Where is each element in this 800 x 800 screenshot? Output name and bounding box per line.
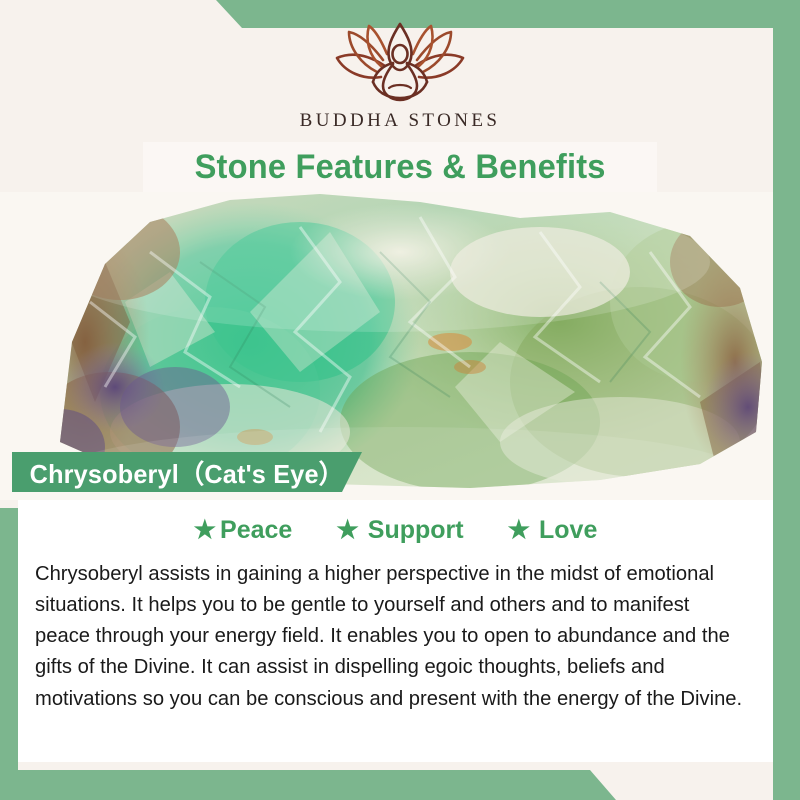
brand-logo-block: BUDDHA STONES: [0, 20, 800, 132]
benefit-tag-label: Peace: [220, 516, 292, 545]
benefit-tag-love: ★ Love: [508, 516, 598, 545]
content-card: ★ Peace ★ Support ★ Love Chrysoberyl ass…: [18, 500, 773, 762]
benefit-tags-row: ★ Peace ★ Support ★ Love: [18, 500, 773, 545]
benefit-tag-label: Love: [539, 516, 597, 545]
lotus-meditation-icon: [325, 20, 475, 106]
stone-description: Chrysoberyl assists in gaining a higher …: [35, 558, 745, 714]
star-icon: ★: [336, 518, 358, 543]
benefit-tag-peace: ★ Peace: [194, 516, 293, 545]
brand-name: BUDDHA STONES: [0, 110, 800, 132]
star-icon: ★: [194, 518, 216, 543]
frame-left-band: [0, 508, 18, 800]
star-icon: ★: [508, 518, 530, 543]
product-infographic: BUDDHA STONES Stone Features & Benefits: [0, 0, 800, 800]
stone-name-banner: Chrysoberyl（Cat's Eye）: [12, 452, 362, 492]
benefit-tag-support: ★ Support: [336, 516, 463, 545]
benefit-tag-label: Support: [368, 516, 464, 545]
title-banner: Stone Features & Benefits: [143, 142, 657, 192]
frame-bottom-band: [0, 770, 800, 800]
page-title: Stone Features & Benefits: [194, 148, 605, 187]
stone-name-label: Chrysoberyl（Cat's Eye）: [17, 454, 344, 491]
